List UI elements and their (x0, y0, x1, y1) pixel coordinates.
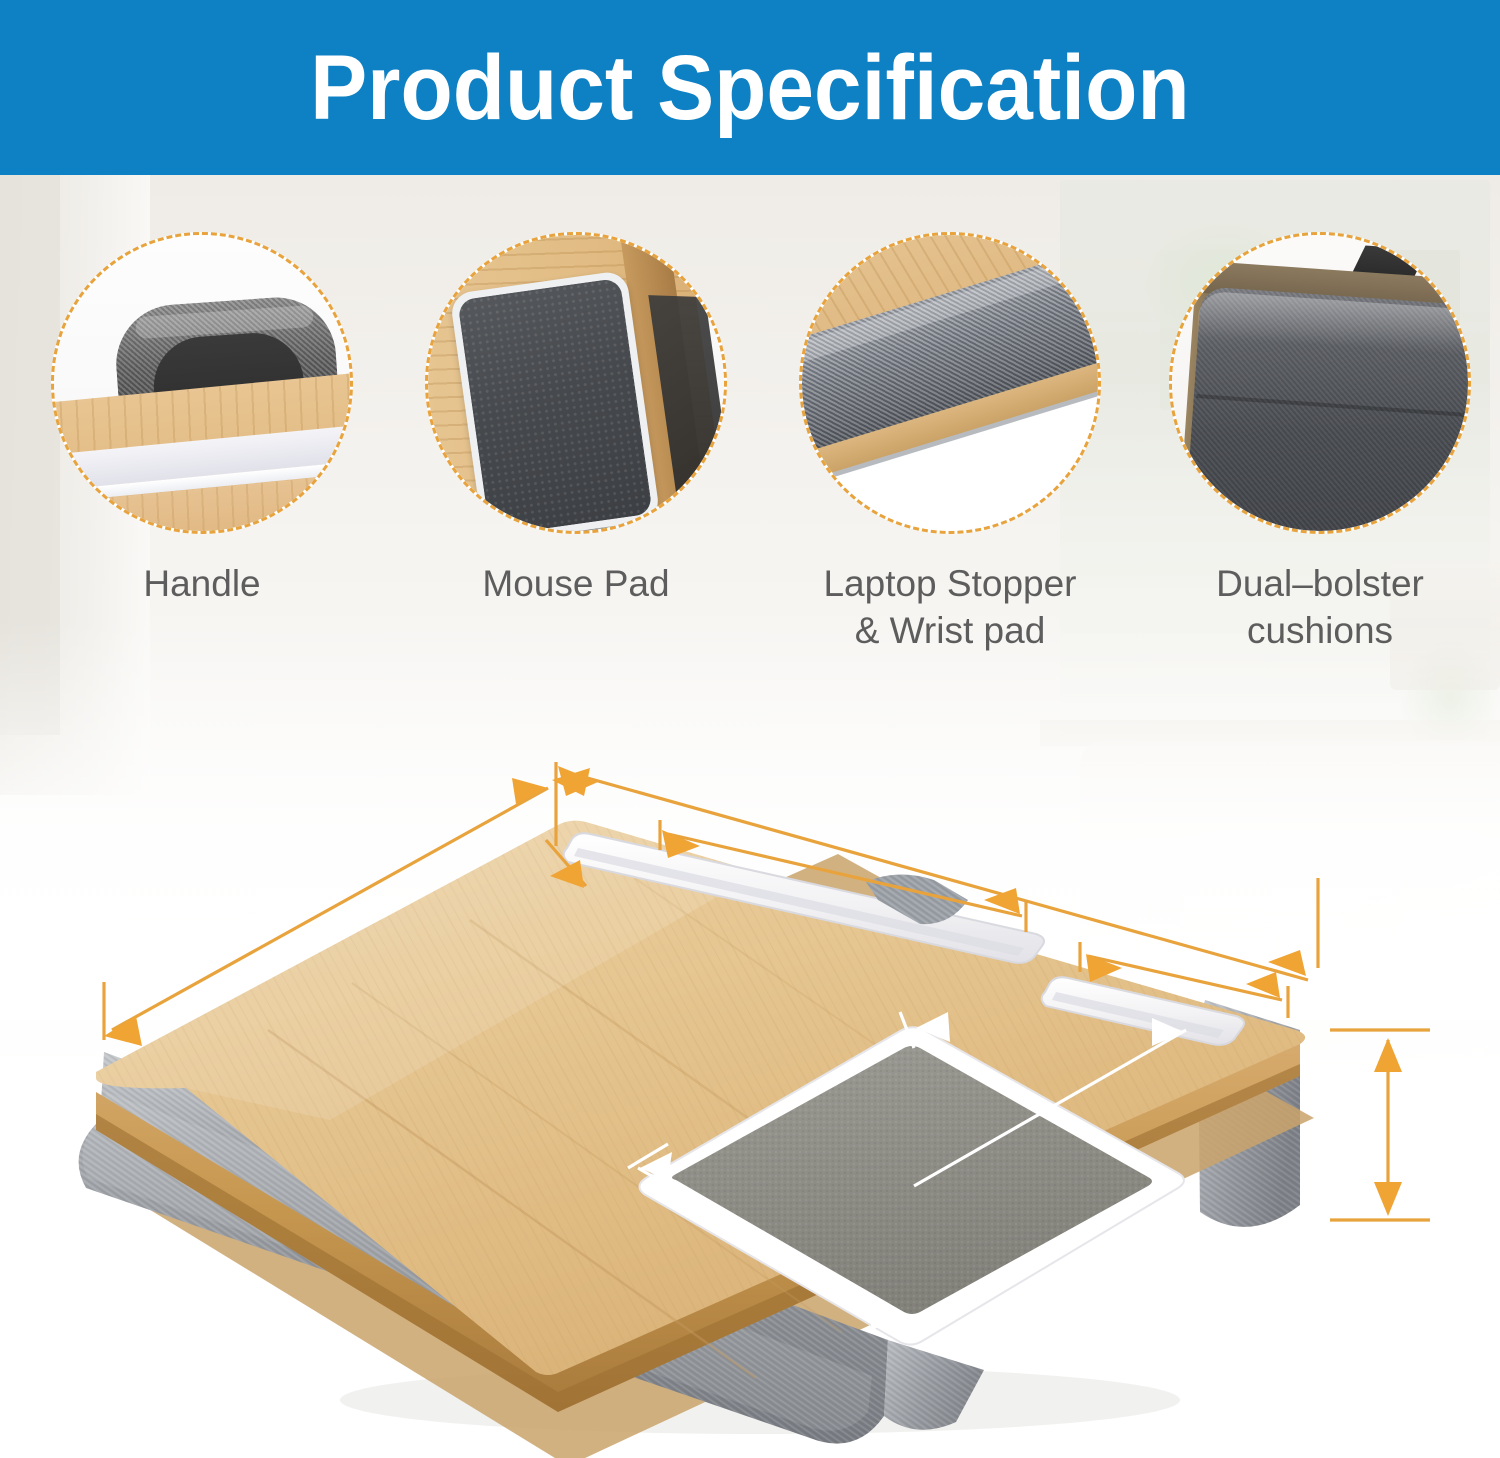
feature-label-laptop-stopper: Laptop Stopper & Wrist pad (780, 560, 1120, 655)
title-banner: Product Specification (0, 0, 1500, 175)
dual-bolster-closeup-icon (1169, 232, 1471, 534)
lap-desk-illustration: 21.5 " 12" 1" 14" 5" 6.2" 8" 2.5” (0, 700, 1500, 1458)
handle-closeup-icon (51, 232, 353, 534)
laptop-stopper-closeup-icon (799, 232, 1101, 534)
feature-callout-mouse-pad: Mouse Pad (406, 232, 746, 607)
page-title: Product Specification (310, 42, 1190, 134)
feature-label-mouse-pad: Mouse Pad (406, 560, 746, 607)
feature-label-handle: Handle (32, 560, 372, 607)
feature-label-dual-bolster: Dual–bolster cushions (1150, 560, 1490, 655)
mouse-pad-closeup-icon (425, 232, 727, 534)
product-specification-page: Product Specification Handle (0, 0, 1500, 1458)
lap-desk-svg (0, 700, 1500, 1458)
feature-callout-laptop-stopper: Laptop Stopper & Wrist pad (780, 232, 1120, 655)
feature-callout-row: Handle Mouse Pad (0, 232, 1500, 692)
feature-callout-handle: Handle (32, 232, 372, 607)
feature-callout-dual-bolster: Dual–bolster cushions (1150, 232, 1490, 655)
